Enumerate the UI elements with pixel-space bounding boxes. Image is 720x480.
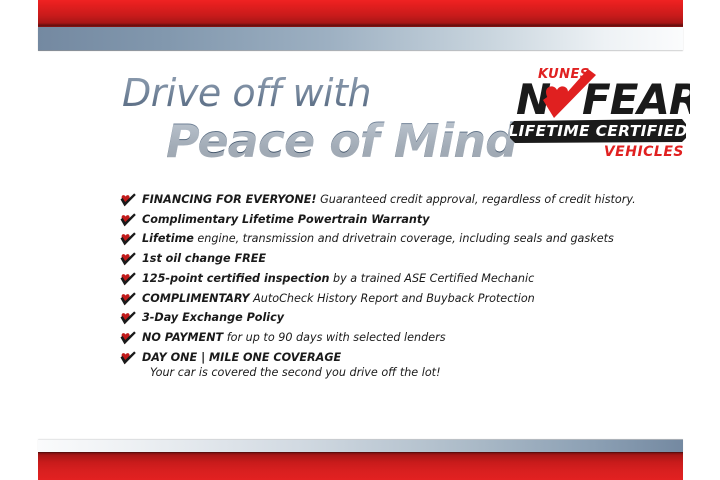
bottom-banner-bars bbox=[0, 438, 720, 480]
top-red-bar bbox=[38, 0, 683, 25]
headline-line-1: Drive off with bbox=[122, 74, 517, 112]
checkmark-icon bbox=[120, 213, 136, 227]
list-item-bold: COMPLIMENTARY bbox=[142, 292, 250, 305]
list-item: 1st oil change FREE bbox=[120, 252, 694, 265]
checkmark-icon bbox=[120, 331, 136, 345]
logo-vehicles-text: VEHICLES bbox=[604, 144, 684, 158]
logo-tagline-text: LIFETIME CERTIFIED bbox=[510, 122, 688, 140]
headline-line-2: Peace of Mind bbox=[166, 118, 517, 164]
svg-text:FEAR: FEAR bbox=[582, 75, 690, 124]
list-item: 125-point certified inspection by a trai… bbox=[120, 272, 694, 285]
list-item: DAY ONE | MILE ONE COVERAGE Your car is … bbox=[120, 351, 694, 379]
benefits-list: FINANCING FOR EVERYONE! Guaranteed credi… bbox=[120, 193, 694, 386]
checkmark-icon bbox=[120, 272, 136, 286]
list-item-bold: DAY ONE | MILE ONE COVERAGE bbox=[142, 351, 341, 364]
list-item-bold: FINANCING FOR EVERYONE! bbox=[142, 193, 317, 206]
list-item-rest: AutoCheck History Report and Buyback Pro… bbox=[250, 292, 535, 305]
logo-artwork: KUNES N FEAR LIFETIME CERTIFIED VEHICLES bbox=[510, 62, 690, 158]
list-item: FINANCING FOR EVERYONE! Guaranteed credi… bbox=[120, 193, 694, 206]
list-item-rest: Guaranteed credit approval, regardless o… bbox=[317, 193, 636, 206]
checkmark-icon bbox=[120, 193, 136, 207]
bottom-gray-bar bbox=[38, 440, 683, 452]
list-item-subtext: Your car is covered the second you drive… bbox=[150, 366, 694, 379]
kunes-no-fear-logo: KUNES N FEAR LIFETIME CERTIFIED VEHICLES bbox=[510, 62, 690, 158]
bottom-red-bar bbox=[38, 453, 683, 480]
top-banner-bars bbox=[0, 0, 720, 52]
list-item-bold: 3-Day Exchange Policy bbox=[142, 311, 284, 324]
list-item-bold: NO PAYMENT bbox=[142, 331, 223, 344]
list-item: Complimentary Lifetime Powertrain Warran… bbox=[120, 213, 694, 226]
list-item: Lifetime engine, transmission and drivet… bbox=[120, 232, 694, 245]
promo-flyer: Drive off with Peace of Mind KUNES N FEA… bbox=[0, 0, 720, 480]
checkmark-icon bbox=[120, 351, 136, 365]
list-item-rest: by a trained ASE Certified Mechanic bbox=[329, 272, 534, 285]
list-item-bold: 1st oil change FREE bbox=[142, 252, 266, 265]
list-item: NO PAYMENT for up to 90 days with select… bbox=[120, 331, 694, 344]
list-item-rest: engine, transmission and drivetrain cove… bbox=[194, 232, 614, 245]
list-item: COMPLIMENTARY AutoCheck History Report a… bbox=[120, 292, 694, 305]
list-item-bold: Complimentary Lifetime Powertrain Warran… bbox=[142, 213, 430, 226]
checkmark-icon bbox=[120, 292, 136, 306]
list-item-bold: 125-point certified inspection bbox=[142, 272, 329, 285]
checkmark-icon bbox=[120, 311, 136, 325]
list-item: 3-Day Exchange Policy bbox=[120, 311, 694, 324]
list-item-rest: for up to 90 days with selected lenders bbox=[223, 331, 445, 344]
checkmark-icon bbox=[120, 232, 136, 246]
logo-no-fear-wordmark: N FEAR bbox=[516, 75, 690, 124]
page-title: Drive off with Peace of Mind bbox=[122, 74, 517, 164]
logo-lifetime-certified-bar: LIFETIME CERTIFIED bbox=[510, 119, 688, 143]
list-item-bold: Lifetime bbox=[142, 232, 194, 245]
checkmark-icon bbox=[120, 252, 136, 266]
top-gray-bar bbox=[38, 27, 683, 50]
